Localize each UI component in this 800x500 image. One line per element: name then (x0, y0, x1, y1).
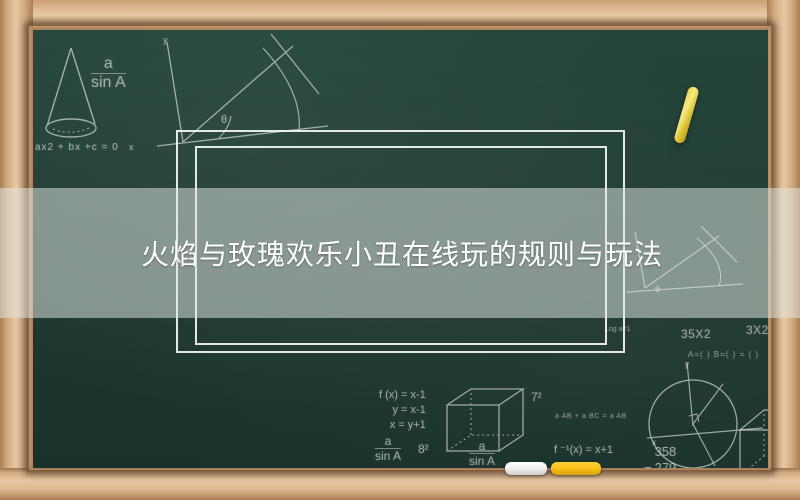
blackboard-banner: a sin A ax2 + bx +c = 0 y x θ (0, 0, 800, 500)
page-title: 火焰与玫瑰欢乐小丑在线玩的规则与玩法 (0, 188, 800, 318)
tray-chalk-yellow (551, 462, 601, 475)
page-title-text: 火焰与玫瑰欢乐小丑在线玩的规则与玩法 (0, 233, 663, 273)
tray-chalk-white (505, 462, 547, 475)
frame-bottom-ledge (0, 468, 800, 500)
